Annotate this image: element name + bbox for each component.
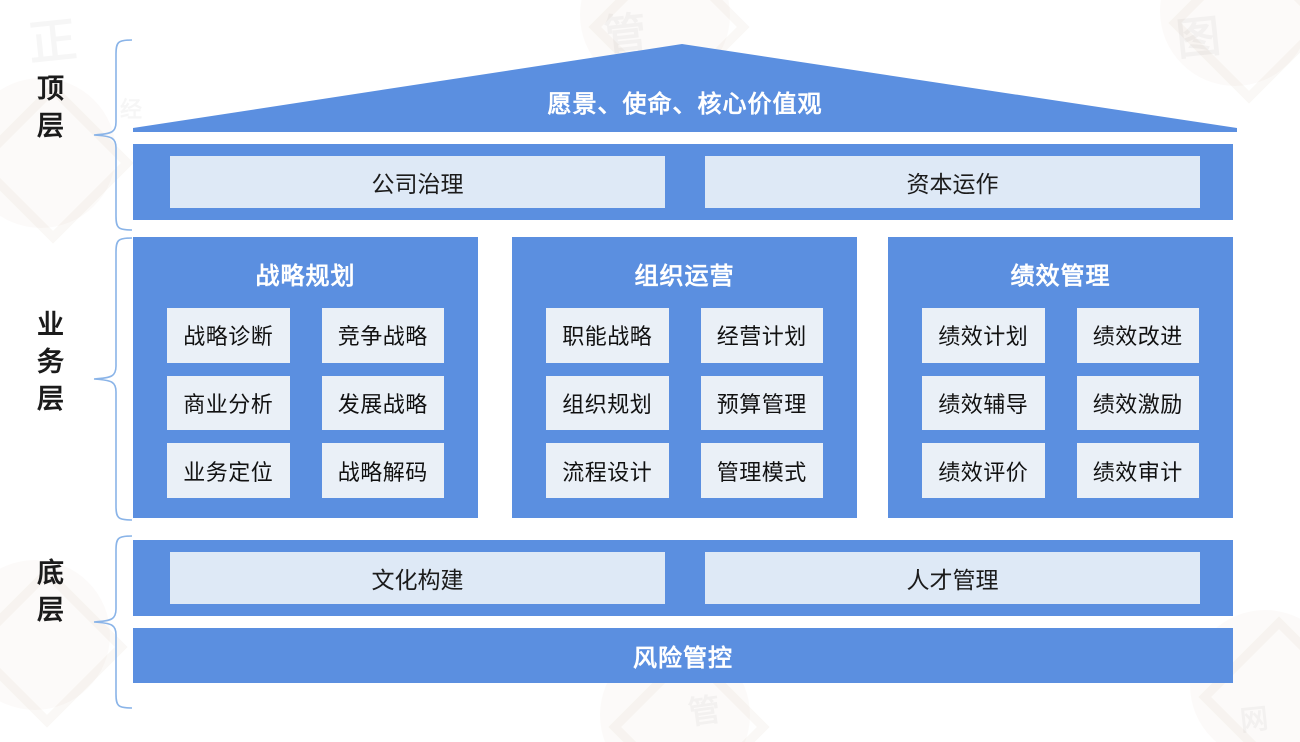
top-layer-cell-1-label: 资本运作 (907, 165, 999, 199)
business-chip-label: 绩效改进 (1093, 319, 1183, 351)
business-column-performance-management[interactable]: 绩效管理 绩效计划 绩效改进 绩效辅导 绩效激励 绩效评价 绩效审计 (888, 237, 1233, 518)
business-chip[interactable]: 管理模式 (701, 443, 824, 498)
business-column-0-grid: 战略诊断 竞争战略 商业分析 发展战略 业务定位 战略解码 (167, 308, 444, 498)
top-layer-band: 公司治理 资本运作 (133, 144, 1233, 220)
business-chip-label: 绩效审计 (1093, 455, 1183, 487)
brace-business-layer (92, 236, 134, 522)
business-chip-label: 绩效评价 (938, 455, 1028, 487)
business-chip[interactable]: 绩效激励 (1077, 376, 1200, 431)
business-column-1-title: 组织运营 (512, 256, 857, 291)
bottom-layer-cell-0-label: 文化构建 (372, 561, 464, 595)
layer-label-top: 顶层 (20, 74, 76, 159)
bottom-layer-cell-1[interactable]: 人才管理 (705, 552, 1200, 604)
business-chip-label: 流程设计 (562, 455, 652, 487)
brace-bottom-layer (92, 534, 134, 710)
business-chip-label: 绩效激励 (1093, 387, 1183, 419)
business-chip-label: 竞争战略 (338, 319, 428, 351)
business-column-2-title: 绩效管理 (888, 256, 1233, 291)
business-chip[interactable]: 经营计划 (701, 308, 824, 363)
layer-label-business: 业务层 (20, 310, 76, 432)
business-chip-label: 战略解码 (338, 455, 428, 487)
top-layer-cell-0-label: 公司治理 (372, 165, 464, 199)
business-column-1-grid: 职能战略 经营计划 组织规划 预算管理 流程设计 管理模式 (546, 308, 823, 498)
business-chip[interactable]: 竞争战略 (322, 308, 445, 363)
business-chip-label: 业务定位 (183, 455, 273, 487)
business-column-2-grid: 绩效计划 绩效改进 绩效辅导 绩效激励 绩效评价 绩效审计 (922, 308, 1199, 498)
business-chip-label: 预算管理 (717, 387, 807, 419)
business-chip[interactable]: 商业分析 (167, 376, 290, 431)
layer-label-bottom: 底层 (20, 558, 76, 643)
layer-label-business-char: 业务层 (28, 310, 68, 421)
roof-label: 愿景、使命、核心价值观 (133, 84, 1237, 119)
business-chip[interactable]: 组织规划 (546, 376, 669, 431)
business-chip[interactable]: 预算管理 (701, 376, 824, 431)
diagram-canvas: 正 管 图 经 管 网 顶层 业务层 底层 愿景、使命、核心价值观 公司治理 资… (0, 0, 1300, 742)
business-column-0-title: 战略规划 (133, 256, 478, 291)
business-chip[interactable]: 绩效计划 (922, 308, 1045, 363)
business-chip-label: 组织规划 (562, 387, 652, 419)
business-chip-label: 绩效计划 (938, 319, 1028, 351)
business-chip-label: 绩效辅导 (938, 387, 1028, 419)
business-chip[interactable]: 职能战略 (546, 308, 669, 363)
business-chip[interactable]: 战略解码 (322, 443, 445, 498)
layer-label-bottom-char: 底层 (28, 558, 68, 632)
business-chip[interactable]: 绩效改进 (1077, 308, 1200, 363)
business-chip[interactable]: 业务定位 (167, 443, 290, 498)
business-chip[interactable]: 绩效辅导 (922, 376, 1045, 431)
bottom-layer-cell-0[interactable]: 文化构建 (170, 552, 665, 604)
business-chip-label: 管理模式 (717, 455, 807, 487)
business-chip-label: 经营计划 (717, 319, 807, 351)
foundation-bar-label: 风险管控 (633, 638, 733, 673)
business-chip-label: 商业分析 (183, 387, 273, 419)
layer-label-top-char: 顶层 (28, 74, 68, 148)
business-chip-label: 职能战略 (562, 319, 652, 351)
business-chip[interactable]: 发展战略 (322, 376, 445, 431)
business-column-organizational-operations[interactable]: 组织运营 职能战略 经营计划 组织规划 预算管理 流程设计 管理模式 (512, 237, 857, 518)
watermark-text: 正 (24, 0, 81, 74)
business-chip[interactable]: 绩效评价 (922, 443, 1045, 498)
top-layer-cell-1[interactable]: 资本运作 (705, 156, 1200, 208)
bottom-layer-band: 文化构建 人才管理 (133, 540, 1233, 616)
foundation-bar[interactable]: 风险管控 (133, 628, 1233, 683)
bottom-layer-cell-1-label: 人才管理 (907, 561, 999, 595)
business-chip-label: 战略诊断 (183, 319, 273, 351)
business-chip[interactable]: 绩效审计 (1077, 443, 1200, 498)
business-chip[interactable]: 流程设计 (546, 443, 669, 498)
top-layer-cell-0[interactable]: 公司治理 (170, 156, 665, 208)
watermark-text: 管 (685, 684, 725, 734)
brace-top-layer (92, 38, 134, 232)
business-column-strategic-planning[interactable]: 战略规划 战略诊断 竞争战略 商业分析 发展战略 业务定位 战略解码 (133, 237, 478, 518)
business-chip-label: 发展战略 (338, 387, 428, 419)
watermark-text: 网 (1238, 697, 1272, 740)
business-chip[interactable]: 战略诊断 (167, 308, 290, 363)
